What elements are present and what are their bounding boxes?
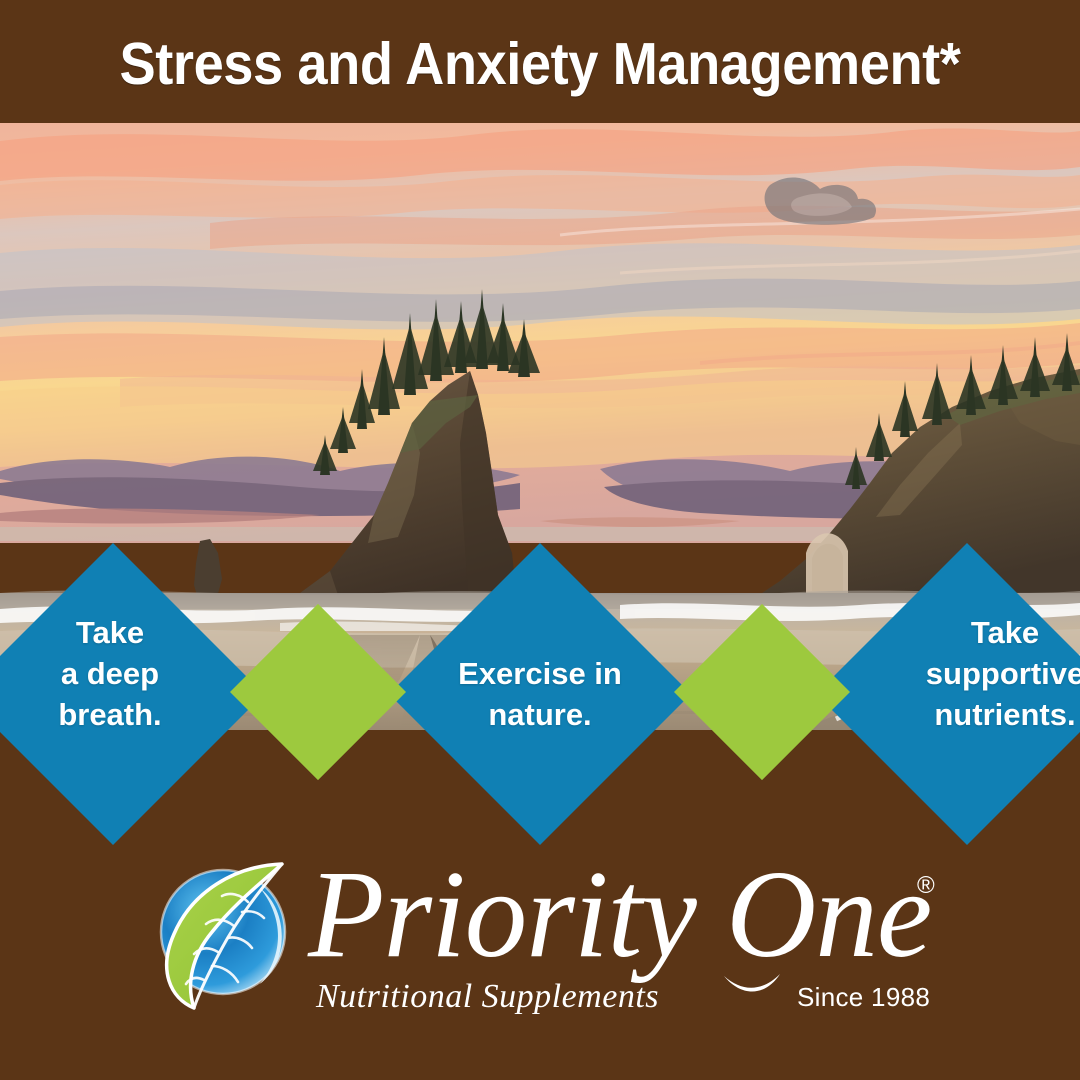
page-title: Stress and Anxiety Management* xyxy=(120,35,961,94)
registered-trademark-icon: ® xyxy=(917,874,935,898)
diamond-label-take-a-deep-breath: Take a deep breath. xyxy=(0,612,260,735)
header-bar: Stress and Anxiety Management* xyxy=(0,0,1080,123)
swoosh-icon xyxy=(722,970,782,1004)
brand-name: Priority One xyxy=(308,842,931,990)
brand-tagline: Nutritional Supplements xyxy=(316,978,659,1016)
leaf-in-circle-icon xyxy=(142,856,304,1018)
diamond-label-take-supportive-nutrients: Take supportive nutrients. xyxy=(855,612,1080,735)
since-year-label: Since 1988 xyxy=(797,982,930,1013)
poster-canvas: Stress and Anxiety Management* xyxy=(0,0,1080,1080)
diamond-label-exercise-in-nature: Exercise in nature. xyxy=(390,653,690,735)
brand-logo[interactable]: Priority One ® Nutritional Supplements S… xyxy=(142,852,942,1032)
